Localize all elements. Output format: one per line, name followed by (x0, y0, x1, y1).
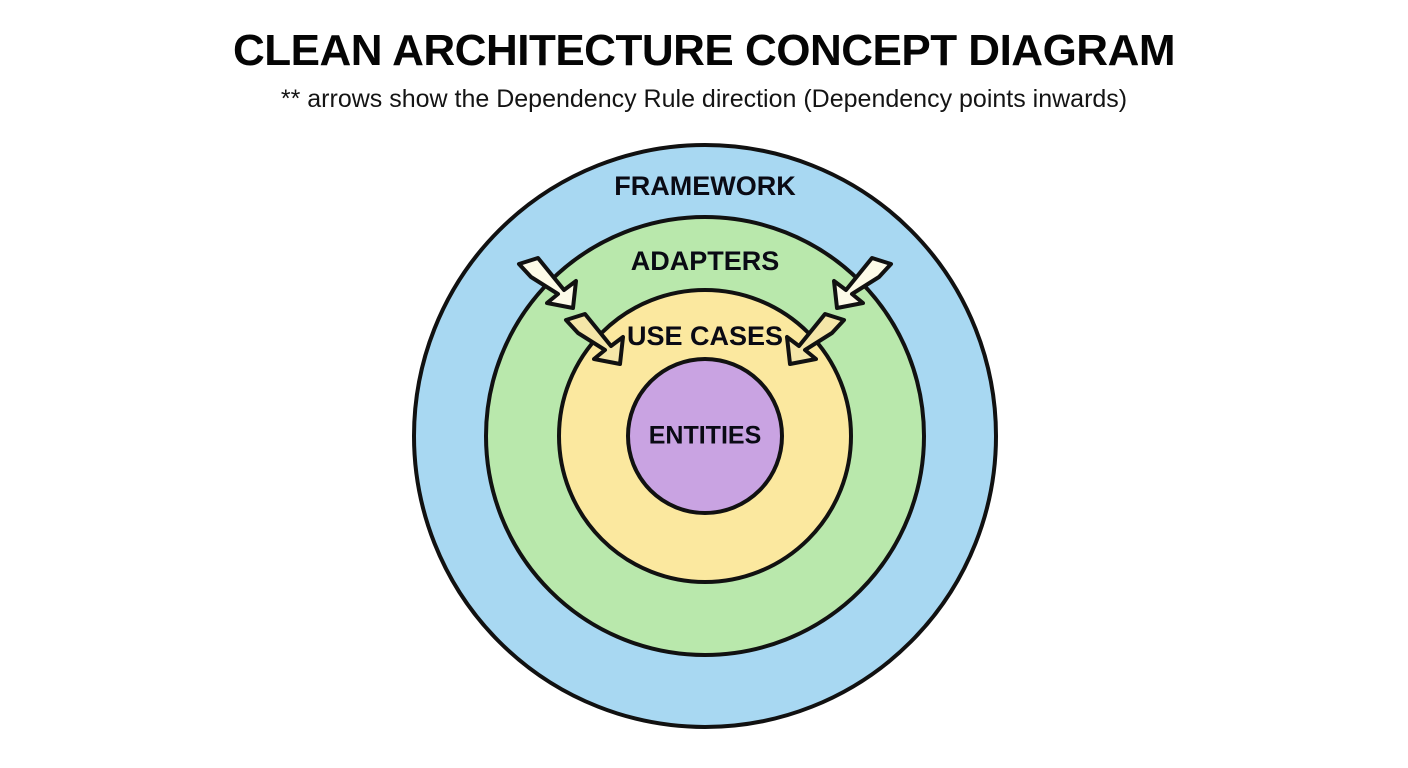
ring-label-framework: FRAMEWORK (614, 171, 796, 201)
ring-label-entities: ENTITIES (649, 422, 762, 450)
diagram-page: CLEAN ARCHITECTURE CONCEPT DIAGRAM ** ar… (0, 0, 1408, 768)
ring-label-use-cases: USE CASES (627, 321, 783, 351)
ring-label-adapters: ADAPTERS (631, 246, 780, 276)
clean-architecture-diagram: FRAMEWORK ADAPTERS USE CASES ENTITIES (0, 0, 1408, 768)
